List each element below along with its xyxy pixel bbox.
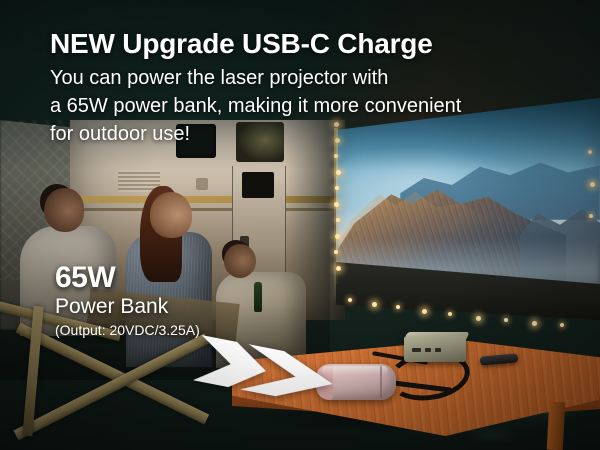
description-text: You can power the laser projector with a… xyxy=(50,64,461,148)
string-light-bulb xyxy=(588,150,592,154)
projector-port-usb xyxy=(425,348,431,352)
string-light-bulb xyxy=(504,318,508,322)
string-light-bulb xyxy=(336,218,340,222)
string-light-bulb xyxy=(335,234,340,239)
product-feature-banner: NEW Upgrade USB-C Charge You can power t… xyxy=(0,0,600,450)
string-light-bulb xyxy=(422,309,427,314)
string-light-bulb xyxy=(476,316,481,321)
string-light-bulb xyxy=(336,170,341,175)
headline-title: NEW Upgrade USB-C Charge xyxy=(50,28,433,60)
description-line-1: You can power the laser projector with xyxy=(50,64,461,92)
power-bank-callout: 65W Power Bank (Output: 20VDC/3.25A) xyxy=(55,262,200,340)
string-light-bulb xyxy=(590,182,595,187)
string-light-bulb xyxy=(334,250,338,254)
string-light-bulb xyxy=(396,305,400,309)
power-bank-seam xyxy=(380,366,382,398)
projector-port-usbc xyxy=(435,348,441,352)
description-line-2: a 65W power bank, making it more conveni… xyxy=(50,92,461,120)
power-bank-wattage: 65W xyxy=(55,262,200,294)
string-light-bulb xyxy=(334,202,339,207)
string-light-bulb xyxy=(348,298,352,302)
power-bank-label: Power Bank xyxy=(55,294,200,320)
power-bank-output-spec: (Output: 20VDC/3.25A) xyxy=(55,320,200,340)
description-line-3: for outdoor use! xyxy=(50,120,461,148)
string-light-bulb xyxy=(372,302,377,307)
string-light-bulb xyxy=(334,154,338,158)
string-light-bulb xyxy=(336,266,341,271)
string-light-bulb xyxy=(335,186,339,190)
table-leg xyxy=(547,402,565,450)
string-light-bulb xyxy=(532,321,537,326)
string-light-bulb xyxy=(560,323,564,327)
string-light-bulb xyxy=(589,214,593,218)
string-light-bulb xyxy=(448,312,452,316)
projector-port-hdmi xyxy=(412,348,421,352)
